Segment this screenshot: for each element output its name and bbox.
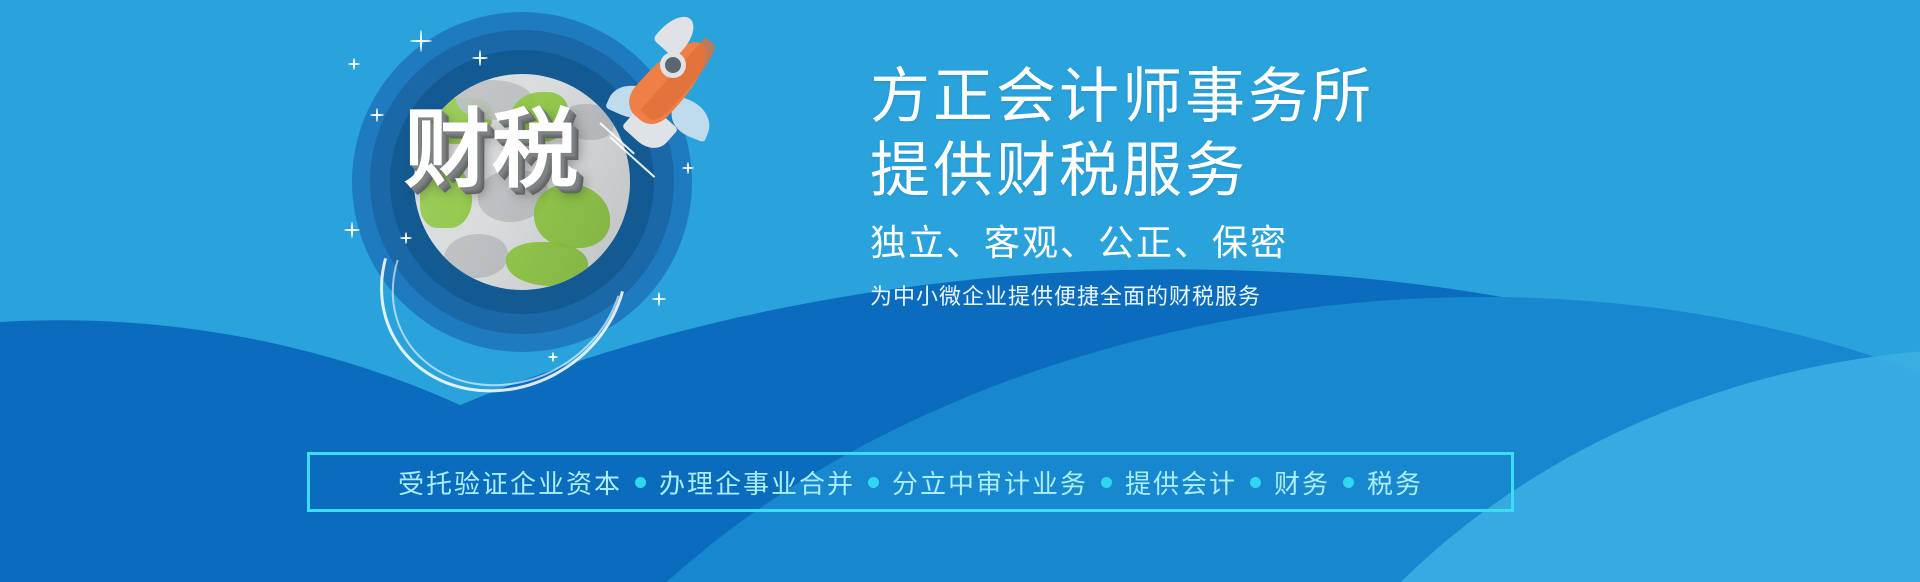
rocket-icon: [604, 18, 734, 168]
logo-cluster: 财税: [352, 12, 722, 382]
separator-dot-icon: [635, 477, 646, 488]
sparkle-star-icon: [400, 232, 412, 244]
headline-line-1: 方正会计师事务所: [870, 60, 1590, 134]
service-item: 税务: [1367, 464, 1423, 501]
sparkle-star-icon: [410, 30, 432, 52]
services-list: 受托验证企业资本 办理企事业合并 分立中审计业务 提供会计 财务 税务: [398, 464, 1423, 501]
hero-banner: 财税 方正会计师事务所 提供财税服务 独立、客观、公正、保密 为中小微企业: [0, 0, 1920, 582]
sparkle-star-icon: [370, 108, 384, 122]
sparkle-star-icon: [348, 58, 360, 70]
sparkle-star-icon: [548, 352, 558, 362]
sparkle-star-icon: [682, 162, 694, 174]
separator-dot-icon: [1101, 477, 1112, 488]
separator-dot-icon: [1343, 477, 1354, 488]
services-bar: 受托验证企业资本 办理企事业合并 分立中审计业务 提供会计 财务 税务: [307, 452, 1514, 512]
separator-dot-icon: [868, 477, 879, 488]
separator-dot-icon: [1250, 477, 1261, 488]
headline-block: 方正会计师事务所 提供财税服务 独立、客观、公正、保密 为中小微企业提供便捷全面…: [870, 60, 1590, 318]
service-item: 提供会计: [1125, 464, 1237, 501]
sparkle-star-icon: [472, 50, 488, 66]
headline-line-2: 提供财税服务: [870, 134, 1590, 208]
sparkle-star-icon: [344, 222, 360, 238]
service-item: 分立中审计业务: [892, 464, 1088, 501]
service-item: 财务: [1274, 464, 1330, 501]
subheadline: 独立、客观、公正、保密: [870, 212, 1590, 274]
service-item: 受托验证企业资本: [398, 464, 622, 501]
service-item: 办理企事业合并: [659, 464, 855, 501]
tagline: 为中小微企业提供便捷全面的财税服务: [870, 276, 1590, 318]
sparkle-star-icon: [652, 292, 666, 306]
